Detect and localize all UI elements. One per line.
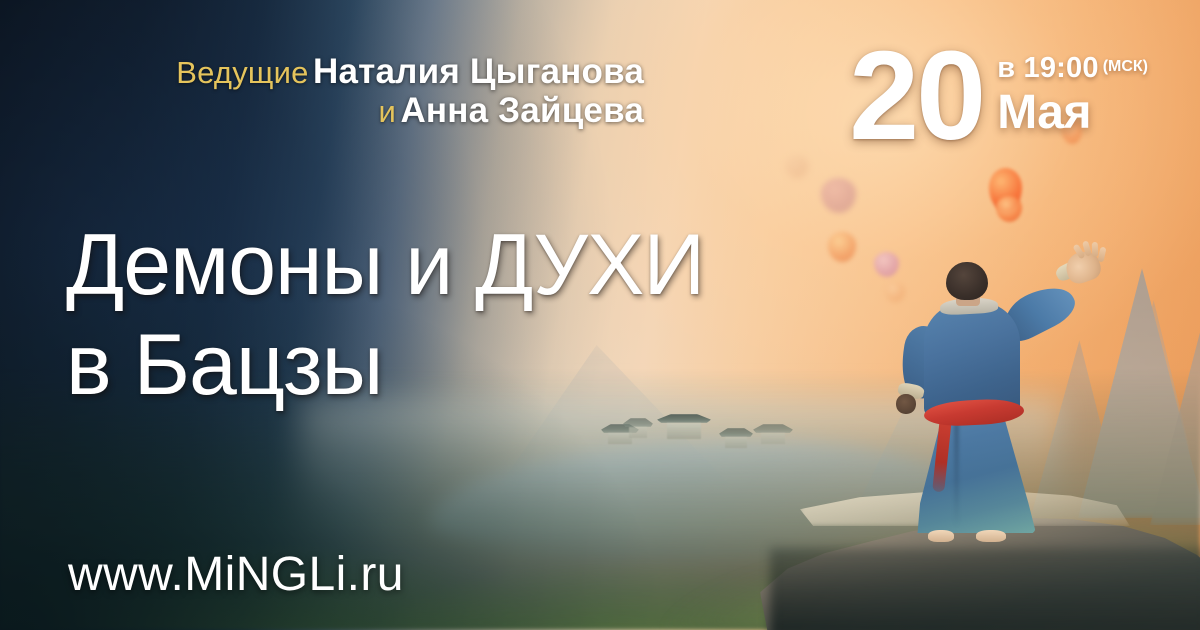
headline-line-2: в Бацзы [66,316,704,416]
presenters-conjunction: и [378,94,396,129]
presenters-block: Ведущие Наталия Цыганова и Анна Зайцева [64,52,644,130]
event-time: в 19:00 [997,52,1098,84]
event-timezone: (МСК) [1103,58,1148,75]
event-month: Мая [997,87,1148,139]
event-day-number: 20 [849,38,983,154]
banner-text-content: Ведущие Наталия Цыганова и Анна Зайцева … [0,0,1200,630]
website-url[interactable]: www.MiNGLi.ru [68,547,404,602]
page-title: Демоны и ДУХИ в Бацзы [66,216,704,416]
presenters-line-2: и Анна Зайцева [64,91,644,130]
event-date-details: в 19:00(МСК) Мая [997,38,1148,139]
headline-line-1: Демоны и ДУХИ [66,216,704,316]
presenter-name-second: Анна Зайцева [400,91,644,130]
presenters-label: Ведущие [176,55,308,90]
event-promo-banner: Ведущие Наталия Цыганова и Анна Зайцева … [0,0,1200,630]
presenter-name-first: Наталия Цыганова [313,52,644,91]
event-time-row: в 19:00(МСК) [997,52,1148,85]
presenters-line-1: Ведущие Наталия Цыганова [64,52,644,91]
event-date-block: 20 в 19:00(МСК) Мая [849,38,1148,154]
